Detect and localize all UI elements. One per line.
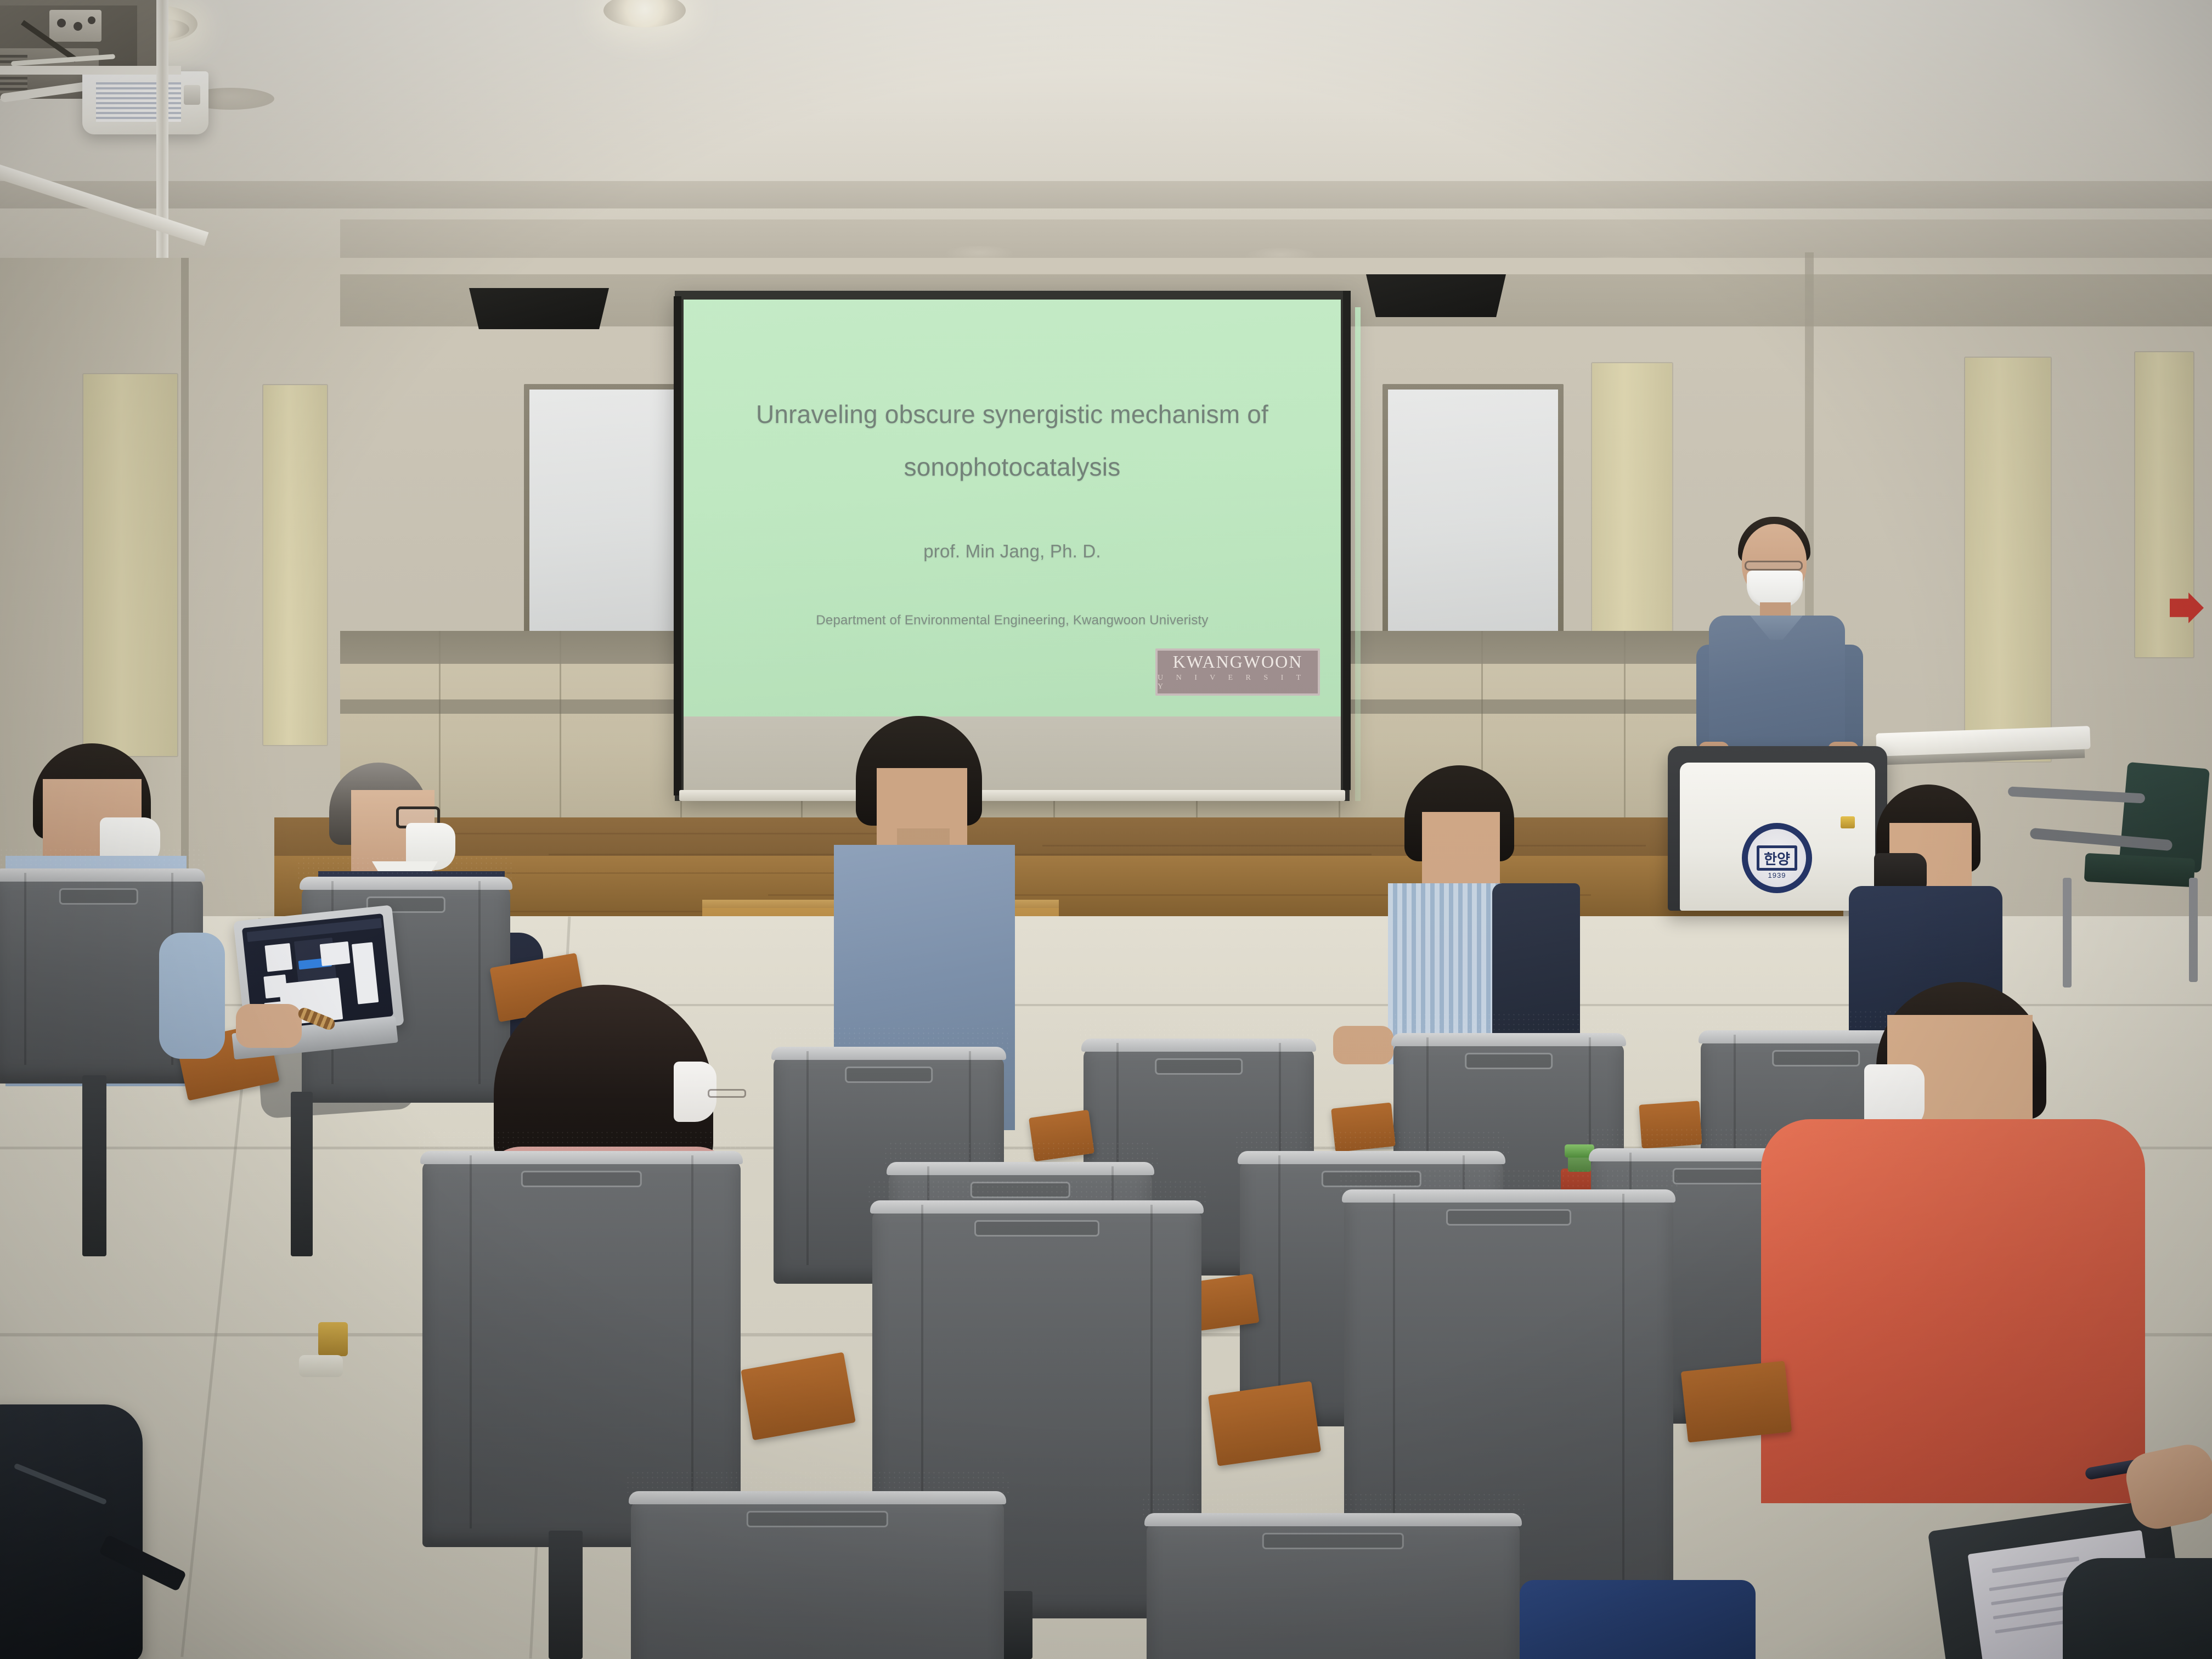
- seat-handle: [1155, 1058, 1243, 1075]
- seat-handle: [1446, 1209, 1571, 1226]
- seat-handle: [59, 888, 138, 905]
- projector-housing-frame: [0, 66, 181, 75]
- seat-ridge: [806, 1051, 809, 1265]
- seat-ridge: [24, 873, 26, 1065]
- seat-headrest-fabric: [867, 1180, 1207, 1205]
- hanyang-university-emblem: 한양 1939: [1742, 823, 1812, 893]
- seat-headrest-fabric: [1234, 1130, 1509, 1155]
- blue-bag[interactable]: [1520, 1580, 1756, 1659]
- wall-panel-inset: [1964, 357, 2052, 763]
- screen-edge-right: [1343, 291, 1351, 790]
- slide-presenter-name: prof. Min Jang, Ph. D.: [684, 541, 1341, 562]
- seat-handle: [1673, 1168, 1773, 1184]
- whiteboard-right: [1383, 384, 1564, 647]
- backpack[interactable]: [0, 1404, 143, 1659]
- seat-handle: [845, 1066, 933, 1083]
- stacking-chair-seat: [2084, 853, 2195, 887]
- emblem-year: 1939: [1748, 871, 1806, 879]
- stacking-chair-leg: [2063, 878, 2072, 988]
- ceiling-speaker: [1366, 274, 1506, 317]
- bracket-hole: [88, 16, 95, 24]
- projection-screen-lower: [684, 716, 1341, 797]
- presenter-glasses: [1745, 561, 1803, 571]
- lecture-hall-photo: Unraveling obscure synergistic mechanism…: [0, 0, 2212, 1659]
- attendee-with-laptop-hand: [236, 1004, 302, 1048]
- seat-headrest-fabric: [296, 856, 516, 881]
- attendee-striped-shirt-hand: [1333, 1026, 1393, 1064]
- seat-leg: [549, 1531, 583, 1659]
- wall-corner-left: [181, 258, 189, 889]
- seat-ridge: [1278, 1155, 1280, 1408]
- floor-object-bottle[interactable]: [318, 1322, 348, 1356]
- seat-headrest-fabric: [625, 1470, 1009, 1496]
- auditorium-seat[interactable]: [625, 1470, 1009, 1659]
- slide-title-line2: sonophotocatalysis: [684, 452, 1341, 482]
- attendee-orange-shirt-body: [1761, 1119, 2145, 1503]
- screen-edge-left: [674, 296, 681, 795]
- emblem-hangul-text: 한양: [1757, 845, 1797, 871]
- wall-panel-inset: [82, 373, 178, 757]
- seat-headrest-fabric: [768, 1026, 1009, 1051]
- seat-handle: [1262, 1533, 1404, 1549]
- seat-headrest-fabric: [883, 1141, 1158, 1166]
- seat-ridge: [478, 881, 481, 1084]
- bracket-hole: [57, 19, 66, 27]
- seat-headrest-fabric: [1078, 1018, 1319, 1043]
- screen-bottom-bar: [679, 790, 1345, 801]
- slide-title-line1: Unraveling obscure synergistic mechanism…: [684, 399, 1341, 429]
- attendee-striped-shirt-head: [1422, 812, 1500, 883]
- floor-object-paper: [299, 1355, 343, 1377]
- slide-affiliation: Department of Environmental Engineering,…: [684, 613, 1341, 628]
- seat-handle: [1772, 1050, 1860, 1066]
- projector-lens: [184, 85, 200, 105]
- seat-headrest-fabric: [1388, 1012, 1629, 1037]
- logo-subtitle: U N I V E R S I T Y: [1158, 674, 1318, 691]
- seat-headrest-fabric: [0, 848, 208, 873]
- seat-handle: [521, 1171, 642, 1187]
- projector-light-edge: [1355, 307, 1361, 801]
- stacking-chair-leg: [2189, 878, 2198, 982]
- seat-shell: [631, 1501, 1004, 1659]
- sleeve: [2063, 1558, 2212, 1659]
- seat-ridge: [1622, 1194, 1624, 1589]
- seat-handle: [1465, 1053, 1553, 1069]
- seat-headrest-fabric: [417, 1130, 746, 1155]
- seat-handle: [974, 1220, 1099, 1237]
- attendee-with-laptop-arm: [159, 933, 225, 1059]
- whiteboard-surface: [1388, 390, 1558, 642]
- kwangwoon-university-logo: KWANGWOON U N I V E R S I T Y: [1155, 648, 1320, 696]
- ceiling-speaker: [469, 288, 609, 329]
- seat-headrest-fabric: [1339, 1169, 1679, 1194]
- seat-ridge: [470, 1155, 472, 1528]
- podium-front-panel: 한양 1939: [1680, 763, 1875, 911]
- attendee-with-bob-hair-glasses: [708, 1089, 746, 1098]
- seat-shell: [1147, 1523, 1520, 1659]
- seat-tablet-arm[interactable]: [1681, 1361, 1792, 1442]
- wall-panel-inset: [262, 384, 328, 746]
- slide-content: Unraveling obscure synergistic mechanism…: [684, 300, 1341, 716]
- auditorium-seat[interactable]: [1141, 1492, 1525, 1659]
- seat-leg: [291, 1092, 313, 1256]
- seat-tablet-arm[interactable]: [1208, 1381, 1321, 1466]
- bracket-hole: [74, 22, 82, 31]
- seat-headrest-fabric: [1141, 1492, 1525, 1517]
- podium-badge-icon: [1841, 816, 1855, 828]
- seat-leg: [82, 1075, 106, 1256]
- logo-name: KWANGWOON: [1173, 653, 1303, 670]
- seat-handle: [747, 1511, 888, 1527]
